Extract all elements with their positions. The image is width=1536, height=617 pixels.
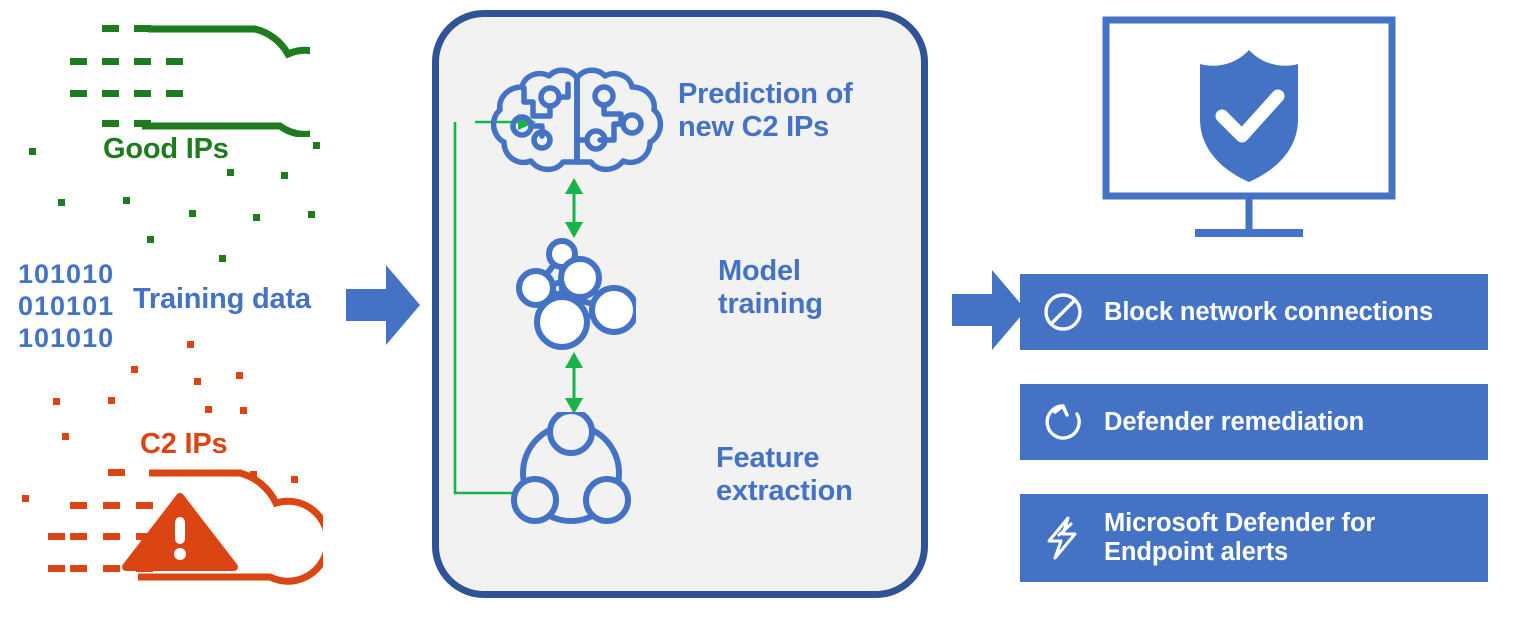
lightning-bolt-icon — [1040, 515, 1086, 561]
diagram-canvas: Good IPs 101010 010101 101010 Training d… — [0, 0, 1536, 617]
double-arrow-prediction-training — [561, 178, 587, 238]
stage-label-prediction: Prediction of new C2 IPs — [678, 78, 853, 144]
cloud-warning-icon — [48, 455, 323, 617]
feature-nodes-icon — [510, 412, 632, 534]
binary-line-1: 010101 — [18, 291, 114, 321]
stage-label-model-training: Model training — [718, 255, 823, 321]
inputs-section: Good IPs 101010 010101 101010 Training d… — [0, 0, 340, 617]
action-defender-endpoint-alerts[interactable]: Microsoft Defender for Endpoint alerts — [1020, 494, 1488, 582]
green-speckle-dots — [0, 140, 340, 270]
arrow-inputs-to-model — [346, 263, 422, 348]
block-circle-slash-icon — [1040, 289, 1086, 335]
action-label: Block network connections — [1104, 298, 1433, 327]
double-arrow-training-feature — [561, 352, 587, 414]
neural-network-icon — [506, 232, 636, 350]
binary-line-0: 101010 — [18, 259, 114, 289]
action-block-network-connections[interactable]: Block network connections — [1020, 274, 1488, 350]
training-data-label: Training data — [133, 283, 311, 316]
cloud-dashed-icon — [40, 12, 310, 137]
action-defender-remediation[interactable]: Defender remediation — [1020, 384, 1488, 460]
action-label: Microsoft Defender for Endpoint alerts — [1104, 509, 1375, 567]
stage-label-feature-extraction: Feature extraction — [716, 442, 853, 508]
arrow-model-to-outcomes — [952, 268, 1028, 353]
refresh-circular-arrow-icon — [1040, 399, 1086, 445]
brain-circuit-icon — [486, 62, 668, 180]
monitor-shield-check-icon — [1100, 14, 1410, 246]
action-label: Defender remediation — [1104, 408, 1364, 437]
